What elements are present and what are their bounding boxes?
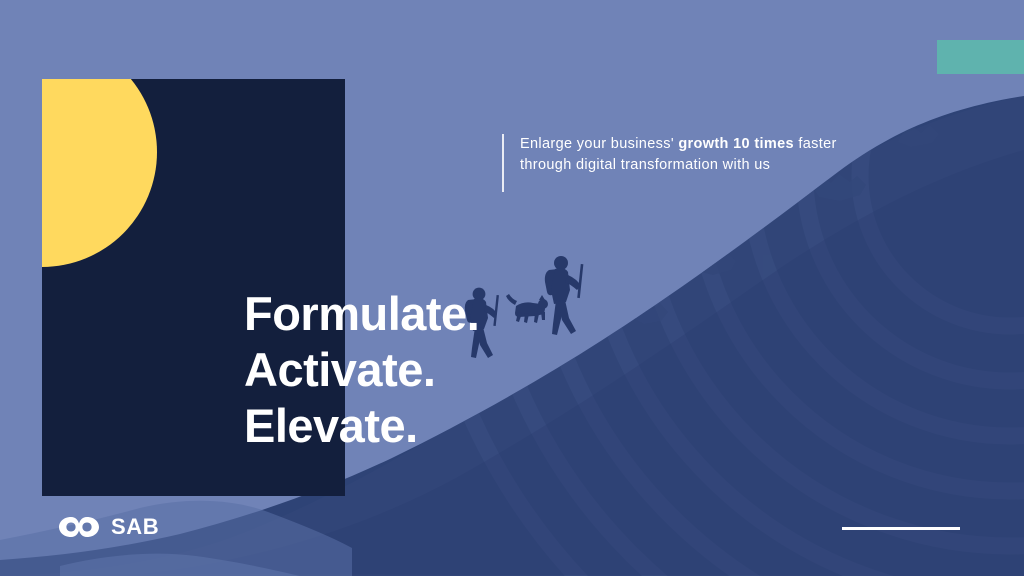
infinity-loop-icon [58, 514, 100, 540]
tagline-part-1: Enlarge your business' [520, 136, 678, 152]
teal-accent-bar [937, 40, 1024, 74]
headline-line-3: Elevate. [244, 398, 664, 454]
page-title: Formulate. Activate. Elevate. [244, 286, 664, 454]
horizontal-rule [842, 527, 960, 530]
yellow-circle-shape [42, 79, 157, 267]
tagline-text: Enlarge your business' growth 10 times f… [520, 134, 840, 176]
brand-logo: SAB [58, 514, 159, 540]
logo-text: SAB [111, 514, 159, 540]
headline-line-2: Activate. [244, 342, 664, 398]
headline-line-1: Formulate. [244, 286, 664, 342]
tagline-emphasis: growth 10 times [678, 136, 794, 152]
vertical-rule [502, 134, 504, 192]
presentation-slide: Formulate. Activate. Elevate. Enlarge yo… [0, 0, 1024, 576]
tagline-block: Enlarge your business' growth 10 times f… [502, 134, 840, 192]
